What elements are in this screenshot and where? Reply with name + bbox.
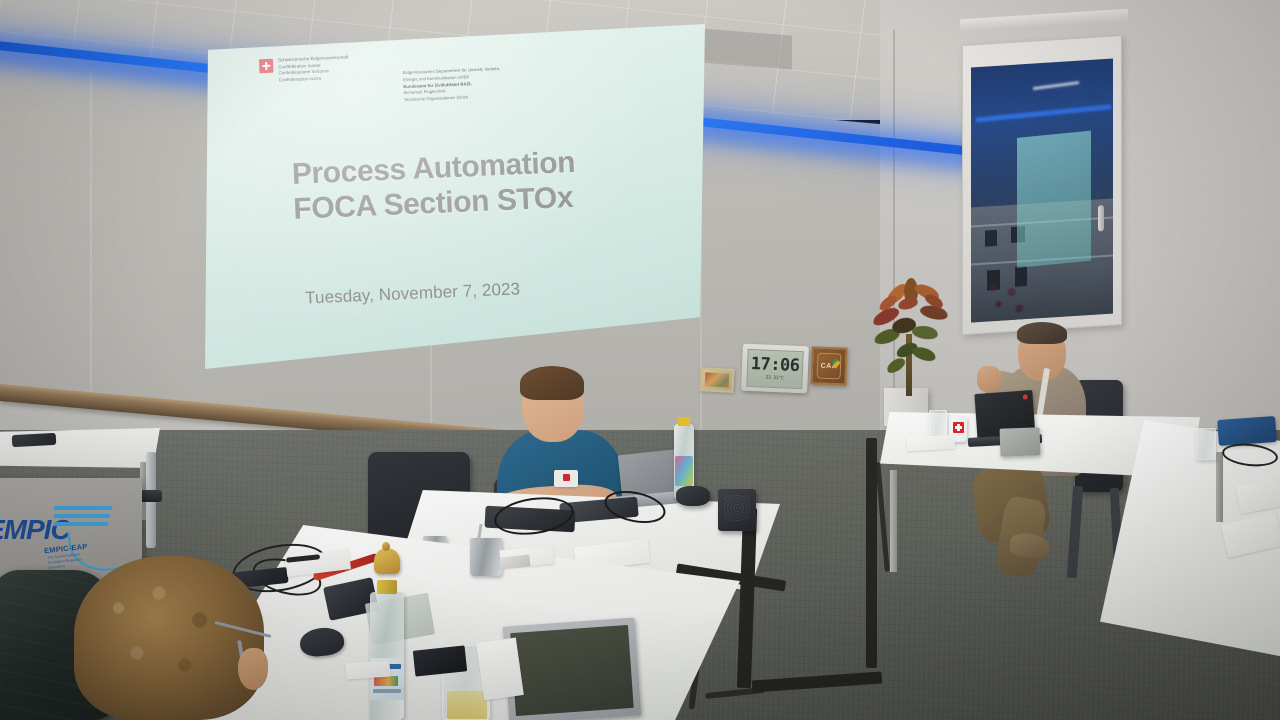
bottle-cap-gold: [377, 580, 397, 594]
metal-cup-front[interactable]: [470, 538, 502, 576]
slide-reflection: [1017, 131, 1091, 268]
bottle-cap: [678, 417, 690, 426]
table-leg: [890, 470, 897, 572]
window-handle[interactable]: [1098, 205, 1104, 231]
participant-hair: [1017, 322, 1067, 344]
badge-swiss-icon: [563, 474, 570, 481]
laptop-logo-icon: [1023, 394, 1028, 399]
laptop-foreground[interactable]: [503, 618, 642, 720]
glass-water-farright[interactable]: [1196, 428, 1216, 460]
desk-bell[interactable]: [374, 548, 400, 574]
speaker-grille: [724, 495, 750, 521]
laptop-screen: [510, 625, 634, 716]
bell-knob: [382, 542, 390, 551]
slide-title: Process Automation FOCA Section STOx: [291, 141, 674, 227]
meeting-room-photo: Schweizerische Eidgenossenschaft Confédé…: [0, 0, 1280, 720]
caa-wooden-plaque: CAA: [810, 346, 847, 385]
meeting-room-window[interactable]: [962, 35, 1122, 335]
foreground-hair-texture: [78, 560, 262, 710]
tablet-stand[interactable]: [1000, 427, 1041, 456]
glass-contents: [447, 691, 487, 719]
papers-front: [345, 660, 390, 679]
swiss-logo-text: Schweizerische Eidgenossenschaft Confédé…: [278, 54, 350, 84]
projection-screen: Schweizerische Eidgenossenschaft Confédé…: [205, 24, 705, 369]
clock-display: 17:06 23 31°C: [746, 349, 804, 389]
swiss-flag-icon: [259, 59, 274, 74]
slide-date: Tuesday, November 7, 2023: [305, 279, 521, 308]
bottle-sticker: [675, 456, 693, 486]
lcd-wall-clock: 17:06 23 31°C: [741, 344, 809, 394]
pole-clamp: [140, 490, 162, 502]
name-badge: [554, 470, 578, 487]
device-on-left-table: [12, 433, 57, 447]
swiss-confederation-logo: Schweizerische Eidgenossenschaft Confédé…: [259, 54, 349, 85]
blue-laptop-case[interactable]: [1217, 416, 1277, 446]
presenter-hair: [520, 366, 584, 400]
clock-time: 17:06: [750, 356, 799, 375]
framed-photo: [699, 367, 734, 393]
ceiling-light-reflection: [1033, 81, 1079, 90]
foreground-ear: [238, 648, 268, 690]
conference-mic-puck[interactable]: [676, 486, 710, 506]
papers-under-laptop: [476, 637, 524, 700]
led-reflection: [976, 104, 1111, 122]
slide-content: Schweizerische Eidgenossenschaft Confédé…: [198, 13, 712, 379]
table-leg: [1216, 452, 1223, 522]
window-glass: [971, 59, 1113, 323]
water-bottle-front[interactable]: [370, 592, 404, 720]
croton-plant: [868, 272, 950, 394]
swiss-cross-icon: [953, 422, 964, 433]
participant-fist: [977, 366, 1001, 392]
table-leg-beam: [866, 438, 877, 668]
tree-outside: [983, 268, 1035, 322]
papers-right: [907, 435, 956, 451]
ceiling-vent-icon: [700, 28, 792, 69]
conference-speaker[interactable]: [718, 489, 756, 531]
notebook-front: [413, 645, 467, 676]
department-header-text: Eidgenössisches Departement für Umwelt, …: [403, 66, 502, 104]
clock-subdisplay: 23 31°C: [766, 376, 784, 382]
